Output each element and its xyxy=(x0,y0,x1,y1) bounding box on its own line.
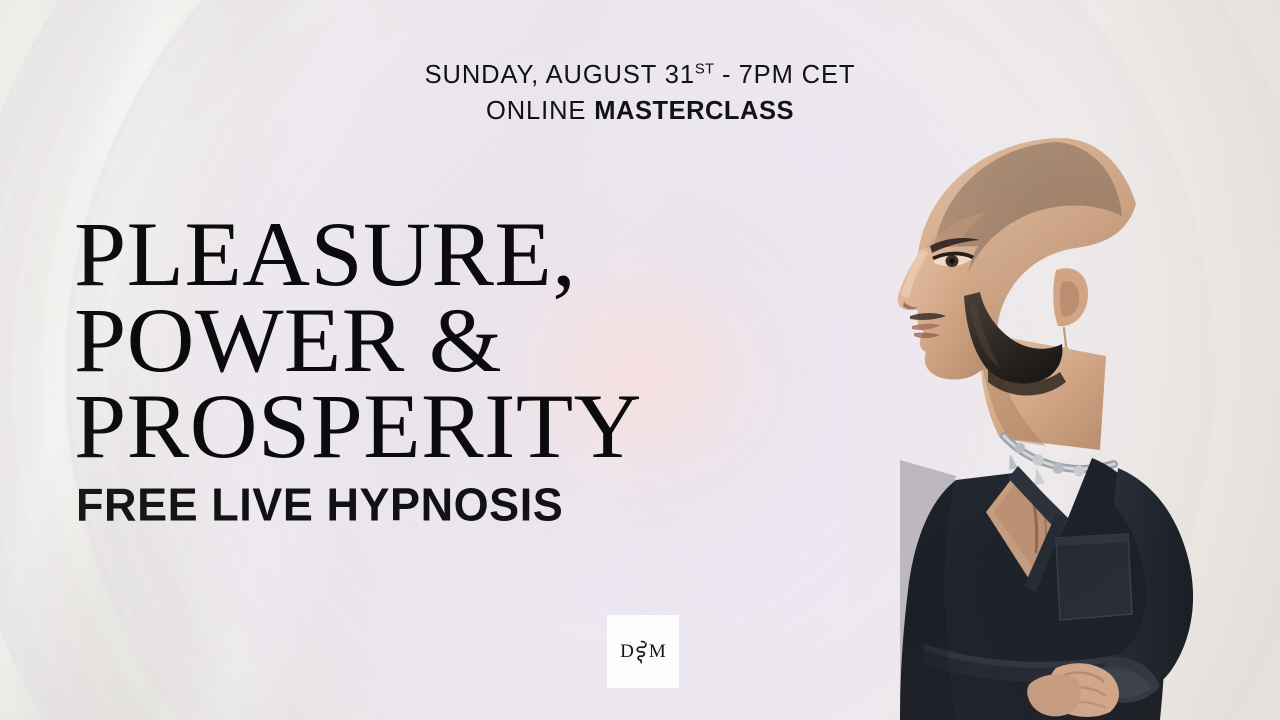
event-details: SUNDAY, AUGUST 31ST - 7PM CET ONLINE MAS… xyxy=(0,60,1280,126)
event-date-ordinal: ST xyxy=(695,62,714,78)
headline-line-2: POWER & xyxy=(74,300,642,380)
headline-line-3: PROSPERITY xyxy=(74,386,642,466)
event-format-word: ONLINE xyxy=(486,97,594,125)
logo-letter-d: D xyxy=(620,642,634,661)
logo-letter-m: M xyxy=(649,642,666,661)
headline-block: PLEASURE, POWER & PROSPERITY xyxy=(74,214,631,466)
event-time-separator: - xyxy=(714,61,738,89)
event-format-line: ONLINE MASTERCLASS xyxy=(0,97,1280,126)
headline-line-1: PLEASURE, xyxy=(74,214,642,294)
brand-logo-card: D M xyxy=(607,615,679,688)
event-date-line: SUNDAY, AUGUST 31ST - 7PM CET xyxy=(0,60,1280,90)
brand-logo-mark: D M xyxy=(620,640,666,664)
subheadline: FREE LIVE HYPNOSIS xyxy=(76,478,563,532)
subject-portrait xyxy=(860,120,1280,720)
promo-banner: SUNDAY, AUGUST 31ST - 7PM CET ONLINE MAS… xyxy=(0,0,1280,720)
event-format-emphasis: MASTERCLASS xyxy=(594,97,794,125)
event-time-text: 7PM CET xyxy=(739,61,856,89)
event-date-text: SUNDAY, AUGUST 31 xyxy=(425,61,695,89)
snake-icon xyxy=(635,640,648,664)
